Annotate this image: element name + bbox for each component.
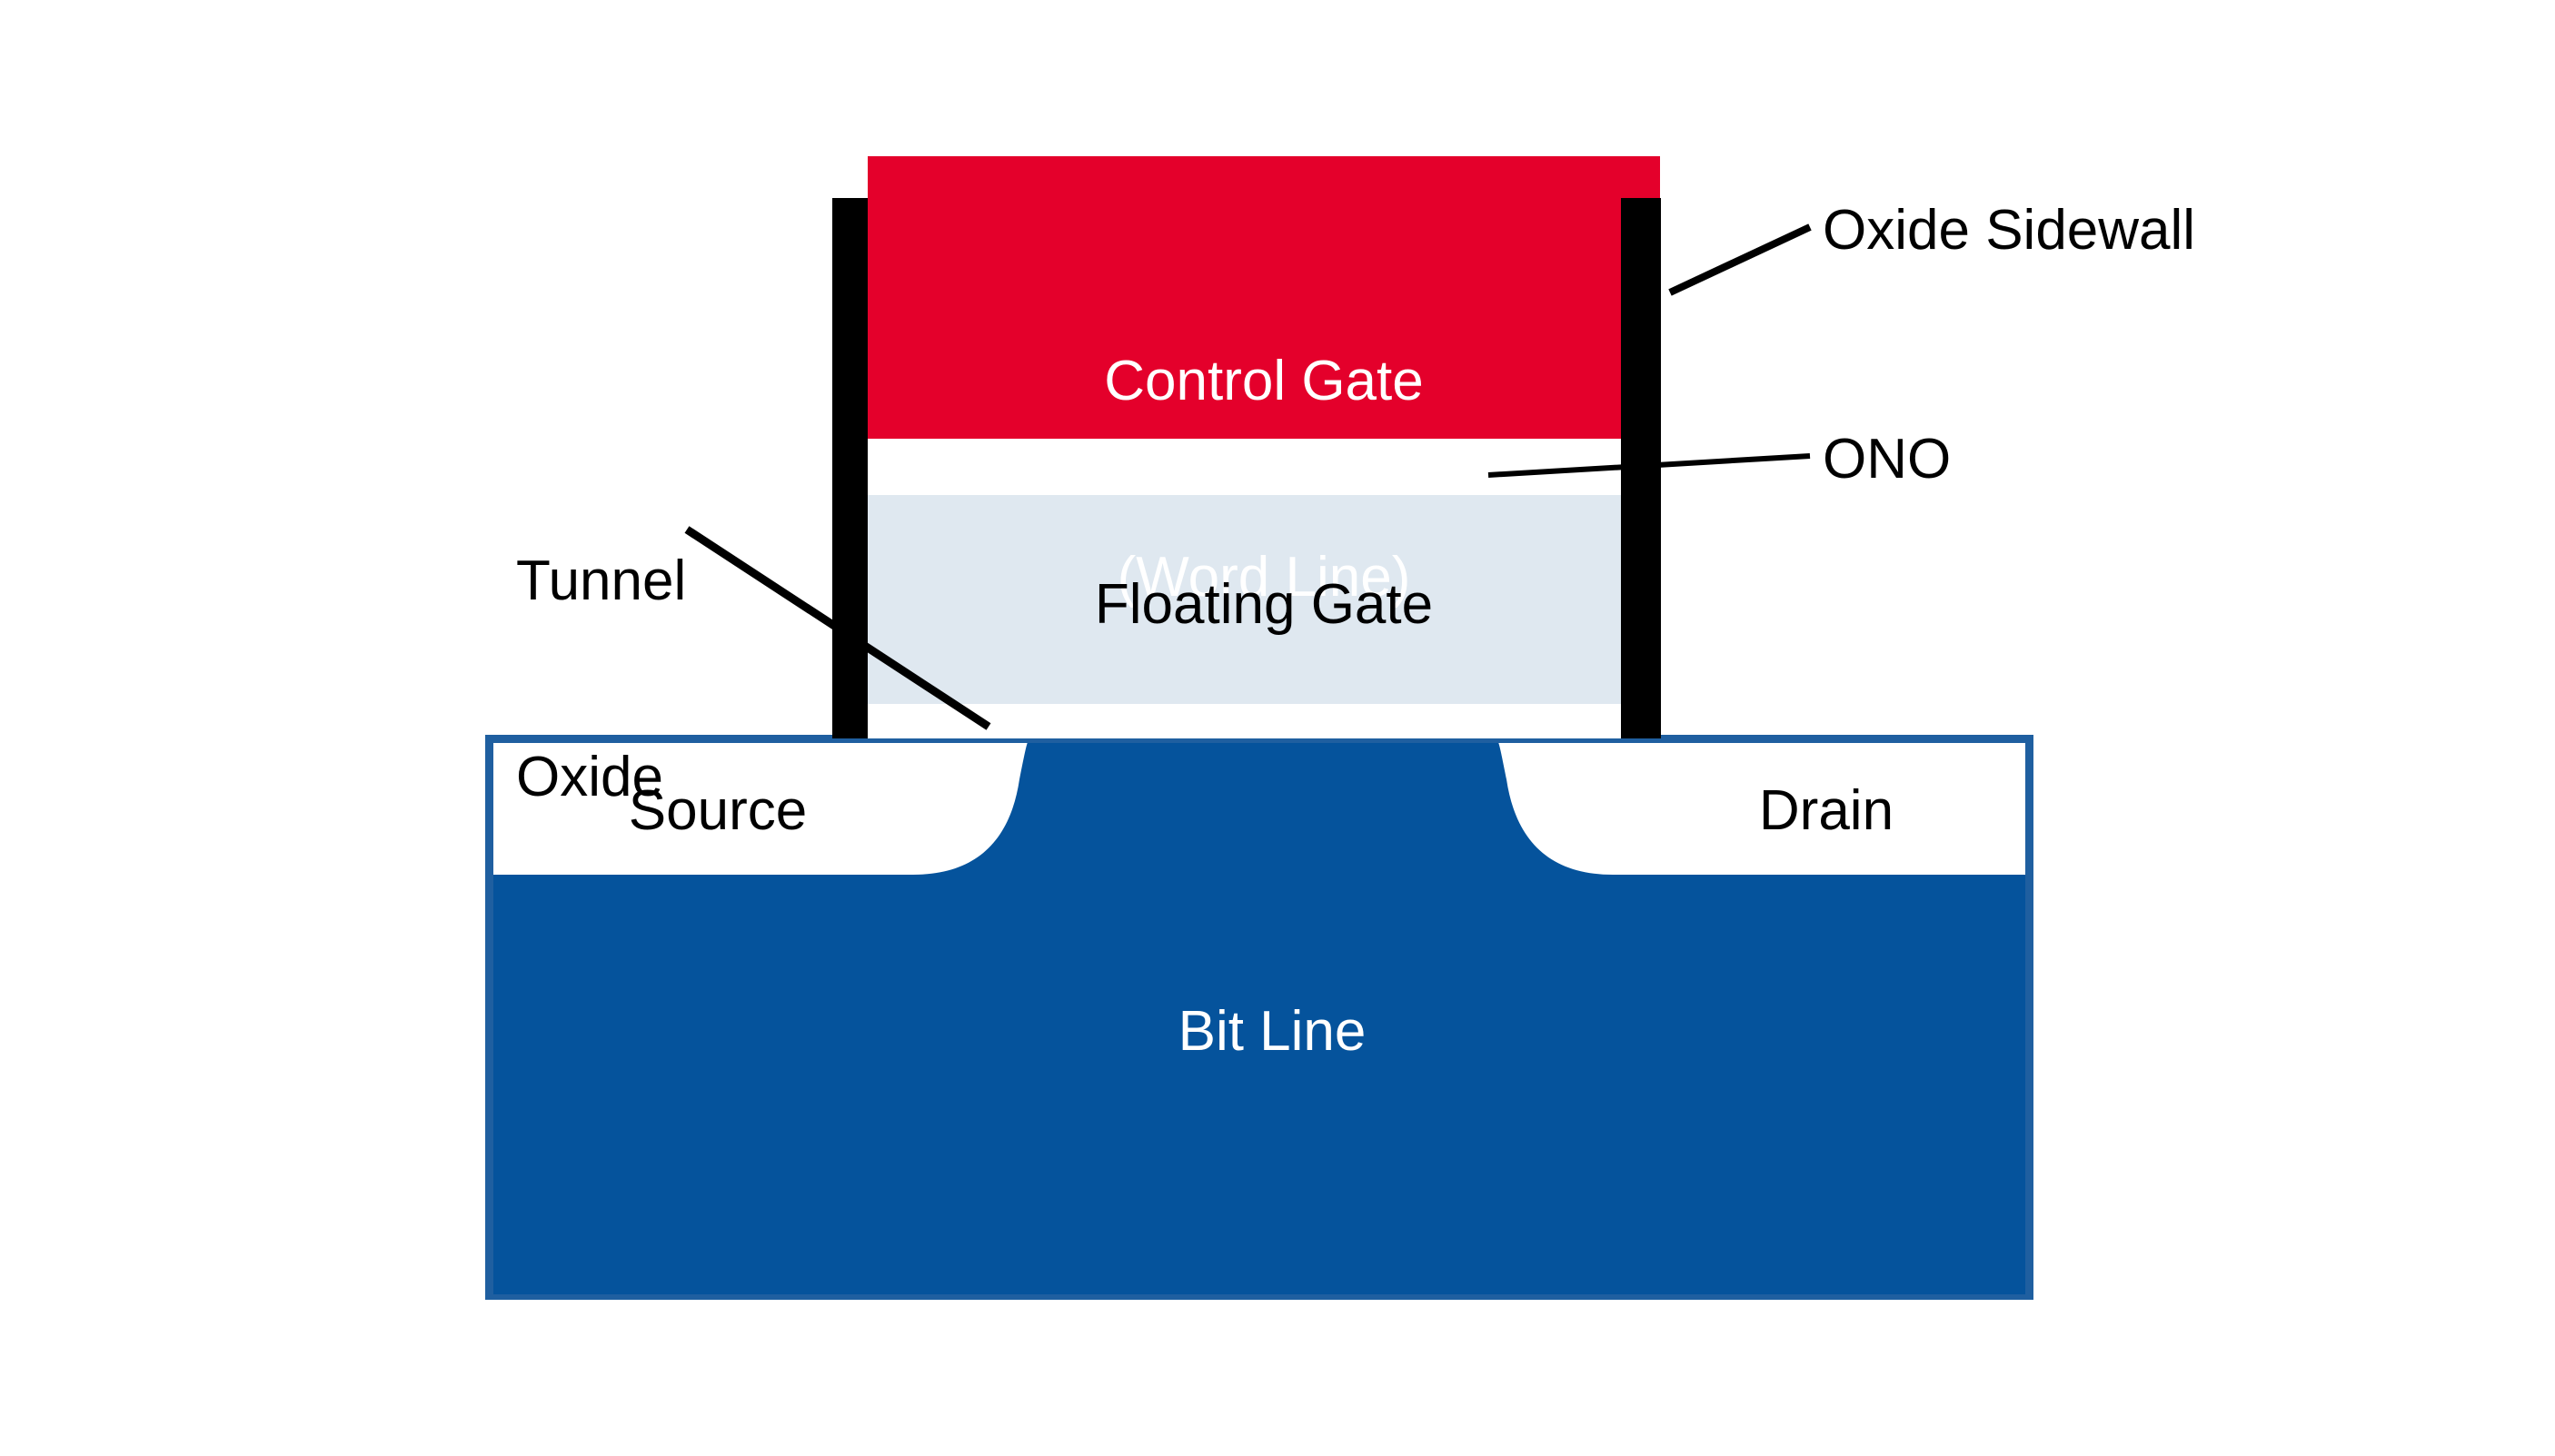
bit-line-label: Bit Line bbox=[1045, 999, 1499, 1065]
diagram-canvas: Control Gate (Word Line) Floating Gate S… bbox=[0, 0, 2555, 1456]
tunnel-oxide-callout-line1: Tunnel bbox=[516, 549, 686, 614]
tunnel-oxide-callout-label: Tunnel Oxide bbox=[516, 418, 686, 940]
tunnel-oxide-callout-line2: Oxide bbox=[516, 745, 686, 810]
control-gate-label: Control Gate (Word Line) bbox=[868, 218, 1660, 740]
oxide-sidewall-leader-line bbox=[1670, 227, 1810, 292]
left-oxide-sidewall-rect bbox=[832, 198, 868, 738]
oxide-sidewall-callout-label: Oxide Sidewall bbox=[1823, 198, 2195, 263]
drain-label: Drain bbox=[1599, 778, 2053, 844]
floating-gate-label: Floating Gate bbox=[868, 572, 1660, 638]
control-gate-label-line1: Control Gate bbox=[868, 349, 1660, 414]
ono-callout-label: ONO bbox=[1823, 427, 1951, 492]
